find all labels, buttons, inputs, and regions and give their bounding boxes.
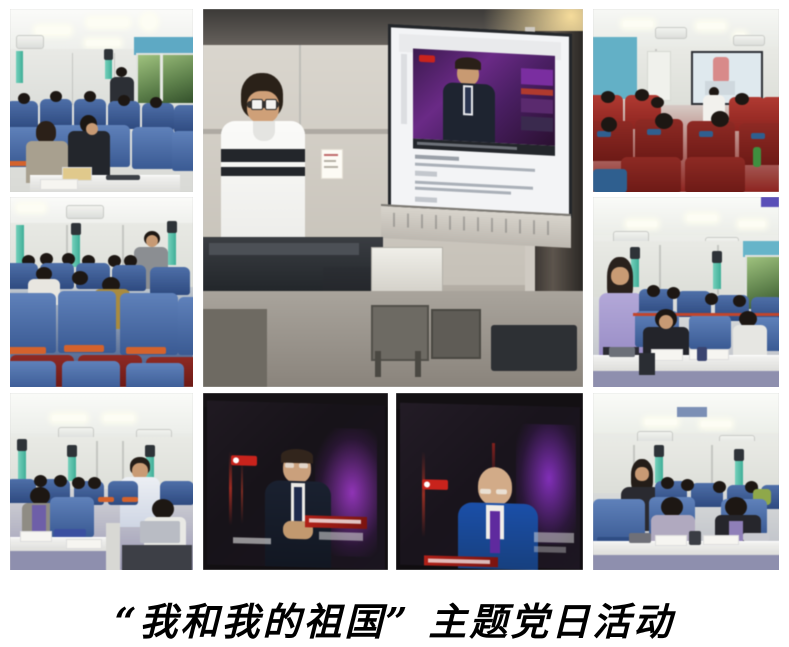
photo-middle-right <box>593 197 779 387</box>
photo-bottom-right <box>593 393 779 570</box>
photo-middle-left-scene <box>10 197 193 387</box>
photo-center-tall <box>203 9 583 387</box>
photo-top-right-scene <box>593 9 779 192</box>
photo-bottom-left-scene <box>10 393 193 570</box>
photo-middle-right-scene <box>593 197 779 387</box>
collage-caption: “我和我的祖国”主题党日活动 <box>0 603 789 641</box>
photo-middle-left <box>10 197 193 387</box>
caption-event: 主题党日活动 <box>428 599 674 644</box>
photo-bottom-center-left <box>203 393 388 570</box>
photo-collage <box>0 0 789 647</box>
caption-quoted-title: “我和我的祖国” <box>115 599 411 644</box>
photo-bottom-center-left-scene <box>203 393 388 570</box>
photo-top-left-scene <box>10 9 193 192</box>
photo-top-right <box>593 9 779 192</box>
photo-center-tall-scene <box>203 9 583 387</box>
photo-bottom-center-right-scene <box>396 393 583 570</box>
photo-bottom-left <box>10 393 193 570</box>
photo-top-left <box>10 9 193 192</box>
photo-bottom-right-scene <box>593 393 779 570</box>
projection-screen <box>388 24 572 218</box>
photo-bottom-center-right <box>396 393 583 570</box>
